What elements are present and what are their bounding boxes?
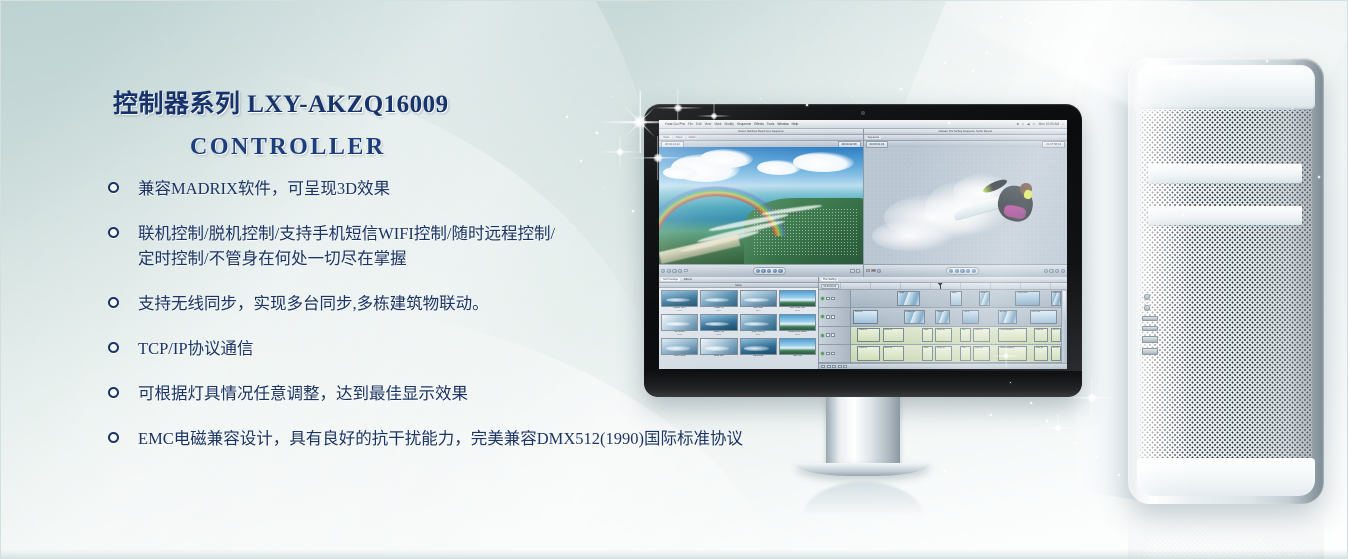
power-button-icon[interactable] [1144,294,1150,300]
timeline-clip[interactable]: Tail Off [1051,328,1062,342]
airport-icon[interactable]: ◗ [1022,122,1024,126]
timeline-clip[interactable]: Ocean Ambience [998,346,1027,360]
audio-track-a1[interactable]: Music.aif Music.aif Amb Music.aif Surf M… [851,327,1061,345]
hollow-circle-icon [108,432,119,443]
tower-reflection-mesh [1140,526,1312,559]
mark-out-icon[interactable] [1049,269,1053,273]
optical-drive-slot-1[interactable] [1148,164,1302,183]
canvas-left-group[interactable] [866,269,882,273]
audio-track-a2[interactable]: Music.aif Music.aif Amb Music.aif Surf M… [851,345,1061,363]
timeline-clip[interactable]: Amb [922,346,933,360]
timeline-clip[interactable]: Music.aif [857,328,880,342]
usb-port-icon[interactable] [1142,326,1158,331]
hollow-circle-icon [108,342,119,353]
video-track-v1[interactable]: Intro Dip Bottom Turn Wipeout Spray Air … [851,308,1061,326]
timeline-clip[interactable]: Tail Off [1051,346,1062,360]
page-subtitle: CONTROLLER [0,134,700,161]
feature-text: EMC电磁兼容设计，具有良好的抗干扰能力，完美兼容DMX512(1990)国际标… [138,429,743,448]
timeline-clip[interactable]: Bottom Turn [904,310,925,324]
overwrite-icon[interactable] [877,269,881,273]
timeline-clip[interactable]: Music.aif [935,346,952,360]
timeline-clip[interactable]: Amb [922,328,933,342]
hollow-circle-icon [108,227,119,238]
surfer-artwork [864,147,1068,264]
page-title: 控制器系列 LXY-AKZQ16009 [0,84,700,120]
timeline-vertical-scrollbar[interactable] [1061,290,1067,363]
spray-plume [872,220,953,253]
list-item: 兼容MADRIX软件，可呈现3D效果 [108,176,848,201]
timeline-clip[interactable]: Surf [960,346,971,360]
feature-text-line2: 定时控制/不管身在何处一切尽在掌握 [138,246,848,271]
firewire-port-icon[interactable] [1142,348,1158,355]
list-item: 联机控制/脱机控制/支持手机短信WIFI控制/随时远程控制/ 定时控制/不管身在… [108,221,848,271]
battery-icon[interactable]: ▭ [1033,122,1036,126]
timeline-clip[interactable]: Air Rev [998,310,1017,324]
timeline-clip[interactable]: Barrel [897,291,920,305]
feature-text: 联机控制/脱机控制/支持手机短信WIFI控制/随时远程控制/ [138,224,555,243]
feature-text: 支持无线同步，实现多台同步,多栋建筑物联动。 [138,294,489,313]
timeline-clip[interactable]: Music.aif [1034,328,1049,342]
timeline-clip[interactable]: Ocean Ambience [998,328,1027,342]
tower-mesh-grille [1140,110,1312,458]
timeline-clip[interactable]: Music.aif [857,346,880,360]
timeline-clip[interactable]: Surf [960,328,971,342]
list-item: TCP/IP协议通信 [108,336,848,361]
timeline-clip[interactable]: Wipeout [935,310,950,324]
tower-floor-reflection [1128,508,1324,559]
transport-controls-right[interactable] [864,264,1068,277]
timeline-clip[interactable]: Spray [950,291,963,305]
list-item: 可根据灯具情况任意调整，达到最佳显示效果 [108,381,848,406]
volume-icon[interactable]: ◀ [1027,122,1029,126]
feature-text: TCP/IP协议通信 [138,339,254,358]
timeline-clip[interactable]: Spray [962,310,979,324]
play-in-to-out-icon[interactable] [955,269,959,273]
timeline-clip[interactable]: Music.aif [883,328,904,342]
add-marker-icon[interactable] [1055,269,1059,273]
tower-bottom-foot [1137,458,1315,496]
loop-icon[interactable] [966,269,970,273]
tower-front-panel [1128,58,1324,504]
tower-port-cluster[interactable] [1142,294,1158,355]
canvas-right-group[interactable] [1044,269,1065,273]
usb-port-icon[interactable] [1142,316,1158,321]
feature-text: 可根据灯具情况任意调整，达到最佳显示效果 [138,384,468,403]
play-icon[interactable] [960,269,964,273]
hollow-circle-icon [108,297,119,308]
hollow-circle-icon [108,387,119,398]
spotlight-icon[interactable]: ⌕ [1062,122,1064,126]
playhead[interactable] [940,283,941,289]
optical-drive-slot-2[interactable] [1148,206,1302,225]
computer-tower [1128,58,1324,559]
list-item: EMC电磁兼容设计，具有良好的抗干扰能力，完美兼容DMX512(1990)国际标… [108,426,848,451]
mark-in-icon[interactable] [1044,269,1048,273]
timeline-clip[interactable]: Air Rev [979,291,990,305]
camera-dot-icon [861,111,865,115]
timeline-clip[interactable]: Music.aif [973,346,990,360]
title-block: 控制器系列 LXY-AKZQ16009 CONTROLLER [0,84,700,161]
hollow-circle-icon [108,182,119,193]
menubar-status-area[interactable]: ✻ ◗ ◀ ▭ Mon 10:50 AM ⌕ [1017,122,1064,126]
tower-top-handle [1137,65,1315,109]
marketing-copy: 控制器系列 LXY-AKZQ16009 CONTROLLER 兼容MADRIX软… [0,0,860,559]
tab-sequence[interactable]: Sequence [866,136,882,139]
insert-edit-icon[interactable] [866,269,870,273]
canvas-playback-group[interactable] [946,267,979,275]
menubar-clock[interactable]: Mon 10:50 AM [1039,122,1060,126]
timeline-clip[interactable]: Reef Pass [1051,291,1062,305]
timeline-lanes[interactable]: Barrel Spray Air Rev Lineup Wide Reef Pa… [851,290,1061,363]
feature-text: 兼容MADRIX软件，可呈现3D效果 [138,179,390,198]
bluetooth-icon[interactable]: ✻ [1017,122,1020,126]
viewer-panel-right: Canvas: The Surfing Sequence, Surfer Rev… [864,129,1068,277]
product-banner: 控制器系列 LXY-AKZQ16009 CONTROLLER 兼容MADRIX软… [0,0,1348,559]
scrollbar-thumb[interactable] [1063,291,1066,320]
timeline-clip[interactable]: Reef Pass [1030,310,1057,324]
list-item: 支持无线同步，实现多台同步,多栋建筑物联动。 [108,291,848,316]
firewire-port-icon[interactable] [1142,336,1158,343]
canvas-viewport-right[interactable] [864,147,1068,264]
timeline-clip[interactable]: Music.aif [935,328,952,342]
timeline-clip[interactable]: Lineup Wide [1015,291,1040,305]
previous-frame-icon[interactable] [949,269,953,273]
feature-list: 兼容MADRIX软件，可呈现3D效果 联机控制/脱机控制/支持手机短信WIFI控… [108,176,848,471]
match-frame-icon[interactable] [1061,269,1065,273]
record-icon[interactable] [871,269,875,273]
headphone-jack-icon[interactable] [1144,305,1150,311]
timeline-clip[interactable]: Music.aif [883,346,904,360]
video-track-v2[interactable]: Barrel Spray Air Rev Lineup Wide Reef Pa… [851,290,1061,308]
timeline-clip[interactable]: Music.aif [973,328,990,342]
next-frame-icon[interactable] [972,269,976,273]
timeline-clip[interactable]: Music.aif [1034,346,1049,360]
timeline-ticks[interactable] [840,283,1067,289]
